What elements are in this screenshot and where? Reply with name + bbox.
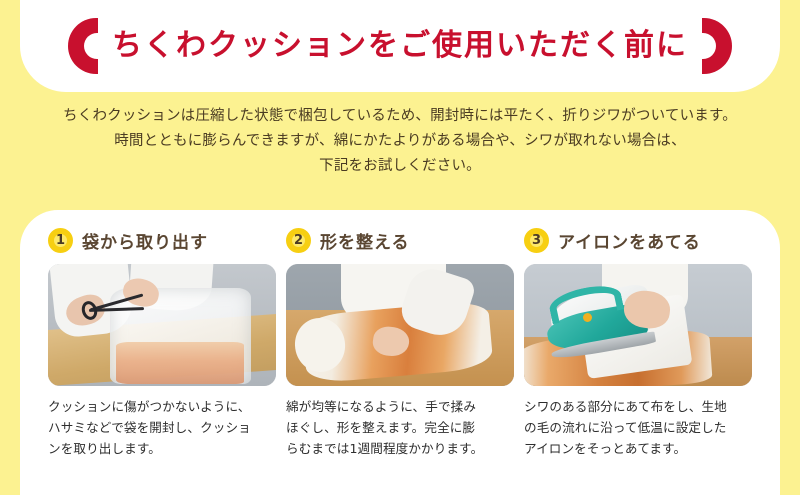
step-1-caption-line-1: クッションに傷がつかないように、 <box>48 396 276 417</box>
intro-paragraph: ちくわクッションは圧縮した状態で梱包しているため、開封時には平たく、折りジワがつ… <box>0 104 800 179</box>
step-1-number: 1 <box>56 234 65 247</box>
step-1-number-badge: 1 <box>48 228 73 253</box>
step-2-number-badge: 2 <box>286 228 311 253</box>
step-1-title: 袋から取り出す <box>82 228 208 253</box>
step-2-number: 2 <box>294 234 303 247</box>
title-banner: ちくわクッションをご使用いただく前に <box>20 0 780 92</box>
photo1-cushion-inside <box>116 342 244 383</box>
iron-on-cushion-photo <box>524 264 752 386</box>
step-2-caption: 綿が均等になるように、手で揉み ほぐし、形を整えます。完全に膨 らむまでは1週間… <box>286 396 514 459</box>
step-3-header: 3 アイロンをあてる <box>524 228 752 253</box>
step-1: 1 袋から取り出す クッションに傷がつかないように、 ハサミなどで袋を開封し、ク <box>48 228 276 495</box>
step-1-caption: クッションに傷がつかないように、 ハサミなどで袋を開封し、クッショ ンを取り出し… <box>48 396 276 459</box>
step-2: 2 形を整える 綿が均等になるように、手で揉み ほぐし、形を整えます。完全に膨 … <box>286 228 514 495</box>
step-2-header: 2 形を整える <box>286 228 514 253</box>
page-title: ちくわクッションをご使用いただく前に <box>112 31 688 61</box>
step-3-number: 3 <box>532 234 541 247</box>
intro-line-1: ちくわクッションは圧縮した状態で梱包しているため、開封時には平たく、折りジワがつ… <box>0 104 800 129</box>
step-3-title: アイロンをあてる <box>558 228 701 253</box>
step-3-caption-line-1: シワのある部分にあて布をし、生地 <box>524 396 752 417</box>
scissors-cutting-bag-photo <box>48 264 276 386</box>
steps-card: 1 袋から取り出す クッションに傷がつかないように、 ハサミなどで袋を開封し、ク <box>20 210 780 495</box>
photo3-iron-dial <box>583 313 592 322</box>
step-2-title: 形を整える <box>320 228 410 253</box>
hands-kneading-cushion-photo <box>286 264 514 386</box>
step-2-caption-line-2: ほぐし、形を整えます。完全に膨 <box>286 417 514 438</box>
intro-line-3: 下記をお試しください。 <box>0 154 800 179</box>
step-1-header: 1 袋から取り出す <box>48 228 276 253</box>
bracket-left-icon <box>68 18 98 74</box>
step-3-caption-line-2: の毛の流れに沿って低温に設定した <box>524 417 752 438</box>
step-3-caption: シワのある部分にあて布をし、生地 の毛の流れに沿って低温に設定した アイロンをそ… <box>524 396 752 459</box>
step-3: 3 アイロンをあてる シワのある部分にあて布をし、生地 の毛の流れに沿って低温に <box>524 228 752 495</box>
step-1-caption-line-2: ハサミなどで袋を開封し、クッショ <box>48 417 276 438</box>
step-3-number-badge: 3 <box>524 228 549 253</box>
step-2-caption-line-3: らむまでは1週間程度かかります。 <box>286 438 514 459</box>
title-row: ちくわクッションをご使用いただく前に <box>68 18 732 74</box>
bracket-right-icon <box>702 18 732 74</box>
infographic-page: ちくわクッションをご使用いただく前に ちくわクッションは圧縮した状態で梱包してい… <box>0 0 800 495</box>
step-1-caption-line-3: ンを取り出します。 <box>48 438 276 459</box>
intro-line-2: 時間とともに膨らんできますが、綿にかたよりがある場合や、シワが取れない場合は、 <box>0 129 800 154</box>
step-2-caption-line-1: 綿が均等になるように、手で揉み <box>286 396 514 417</box>
step-3-caption-line-3: アイロンをそっとあてます。 <box>524 438 752 459</box>
